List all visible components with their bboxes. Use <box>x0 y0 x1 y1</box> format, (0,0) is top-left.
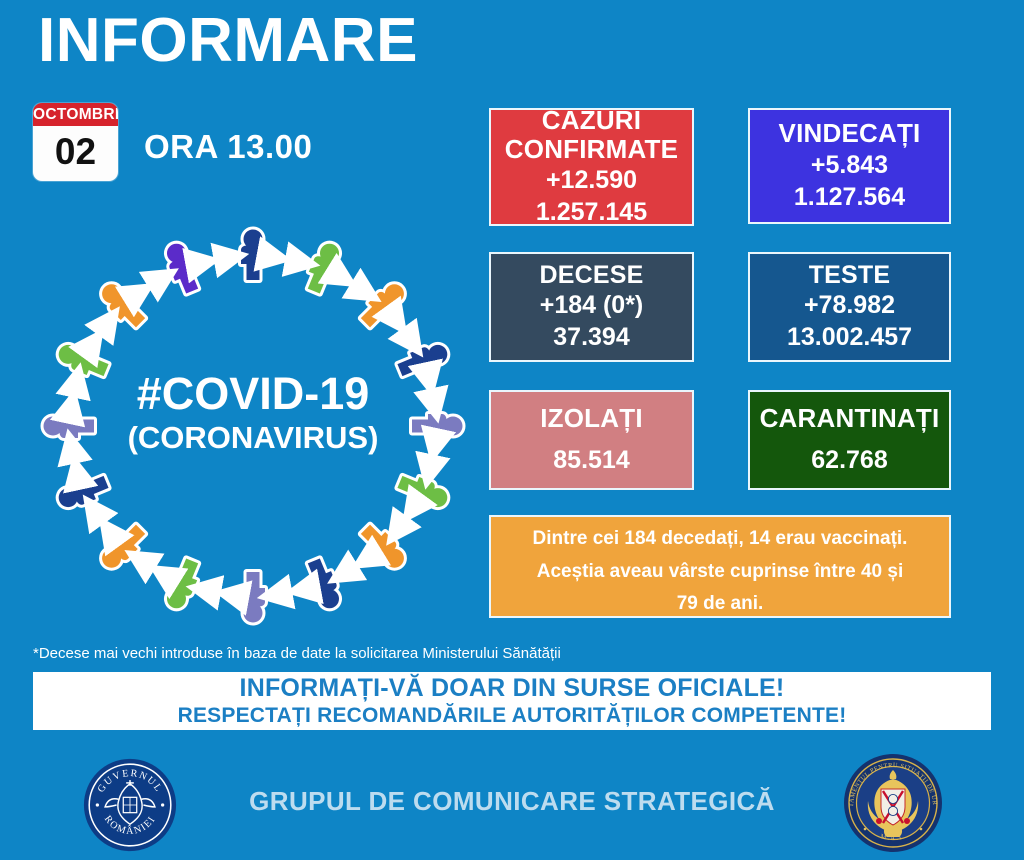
stat-card-vindecati: VINDECAȚI +5.843 1.127.564 <box>748 108 951 224</box>
note-line: Aceștia aveau vârste cuprinse între 40 ș… <box>501 556 939 589</box>
banner-line-2: RESPECTAȚI RECOMANDĂRILE AUTORITĂȚILOR C… <box>178 703 847 728</box>
vaccination-note: Dintre cei 184 decedați, 14 erau vaccina… <box>489 515 951 618</box>
stat-card-teste: TESTE +78.982 13.002.457 <box>748 252 951 362</box>
page-title: INFORMARE <box>38 8 418 73</box>
stat-delta: +12.590 <box>546 164 637 196</box>
people-circle-icon: #COVID-19 (CORONAVIRUS) <box>38 226 468 626</box>
stat-total: 1.127.564 <box>794 181 905 213</box>
dsu-mai-logo: DEPARTAMENTUL PENTRU SITUAȚII DE URGENȚĂ… <box>843 753 943 853</box>
stat-title: TESTE <box>809 261 891 289</box>
stat-title: IZOLAȚI <box>540 404 643 433</box>
note-line: Dintre cei 184 decedați, 14 erau vaccina… <box>501 523 939 556</box>
stat-title: CARANTINAȚI <box>760 404 940 433</box>
stat-total: 13.002.457 <box>787 321 912 353</box>
stat-card-decese: DECESE +184 (0*) 37.394 <box>489 252 694 362</box>
official-sources-banner: INFORMAȚI-VĂ DOAR DIN SURSE OFICIALE! RE… <box>33 672 991 730</box>
stat-total: 62.768 <box>811 444 887 476</box>
stat-card-izolati: IZOLAȚI 85.514 <box>489 390 694 490</box>
stat-title: CAZURI CONFIRMATE <box>505 106 678 164</box>
infographic-root: INFORMARE OCTOMBRIE 02 ORA 13.00 #COVID-… <box>0 0 1024 860</box>
stat-total: 1.257.145 <box>536 196 647 228</box>
calendar-month-label: OCTOMBRIE <box>33 103 118 126</box>
stat-total: 85.514 <box>553 444 629 476</box>
stat-delta: +184 (0*) <box>540 289 644 321</box>
hour-label: ORA 13.00 <box>144 128 312 166</box>
stat-title: DECESE <box>539 261 643 289</box>
footnote: *Decese mai vechi introduse în baza de d… <box>33 645 561 662</box>
banner-line-1: INFORMAȚI-VĂ DOAR DIN SURSE OFICIALE! <box>240 674 785 703</box>
stat-card-carantinati: CARANTINAȚI 62.768 <box>748 390 951 490</box>
note-line: 79 de ani. <box>501 588 939 621</box>
stat-card-cazuri-confirmate: CAZURI CONFIRMATE +12.590 1.257.145 <box>489 108 694 226</box>
stat-delta: +5.843 <box>811 149 888 181</box>
stat-total: 37.394 <box>553 321 629 353</box>
stat-delta: +78.982 <box>804 289 895 321</box>
calendar-icon: OCTOMBRIE 02 <box>33 103 118 181</box>
stat-title-line: CAZURI <box>505 106 678 135</box>
stat-title-line: CONFIRMATE <box>505 135 678 164</box>
stat-title: VINDECAȚI <box>779 119 921 148</box>
calendar-day-label: 02 <box>33 126 118 182</box>
